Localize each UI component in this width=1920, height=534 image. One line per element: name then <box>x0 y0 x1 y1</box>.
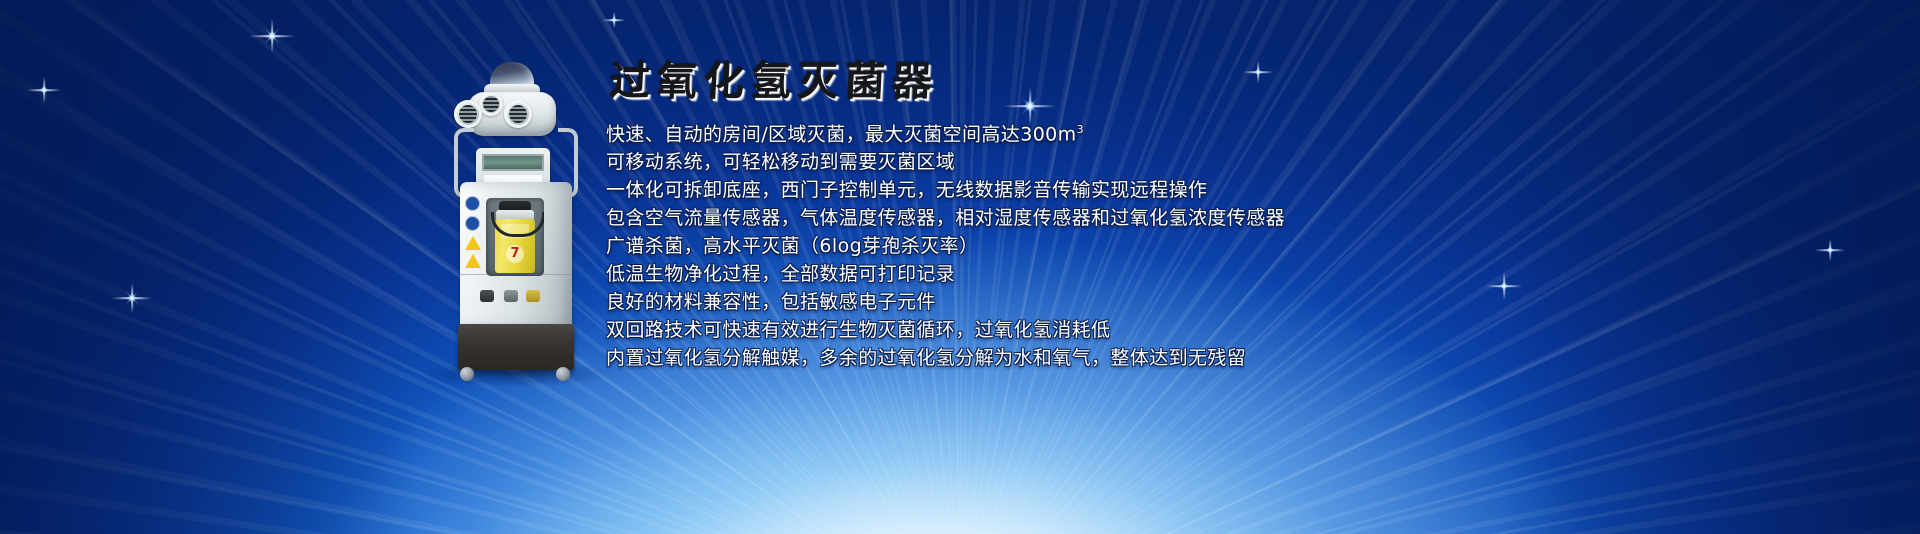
warning-triangle-icon <box>465 254 481 268</box>
nozzle-left-icon <box>454 100 482 128</box>
feature-line: 包含空气流量传感器，气体温度传感器，相对湿度传感器和过氧化氢浓度传感器 <box>606 204 1786 232</box>
warning-triangle-icon <box>465 236 481 250</box>
feature-line: 一体化可拆卸底座，西门子控制单元，无线数据影音传输实现远程操作 <box>606 176 1786 204</box>
panel-display <box>482 154 544 171</box>
caster-wheel-left <box>460 367 474 381</box>
power-button <box>480 290 494 302</box>
feature-line: 良好的材料兼容性，包括敏感电子元件 <box>606 288 1786 316</box>
page-title: 过氧化氢灭菌器 <box>609 62 940 102</box>
feature-line: 低温生物净化过程，全部数据可打印记录 <box>606 260 1786 288</box>
cabinet-body: 7 <box>460 182 572 328</box>
detachable-base <box>458 324 574 370</box>
nozzle-center-icon <box>479 92 503 116</box>
info-sticker-icon <box>465 196 480 211</box>
reagent-bottle-window: 7 <box>486 198 544 276</box>
warning-sticker-group <box>465 196 481 272</box>
control-button <box>504 290 518 302</box>
nozzle-right-icon <box>504 100 532 128</box>
panel-label-strip <box>484 175 542 182</box>
cubic-superscript: 3 <box>1077 123 1084 136</box>
copy-block: 过氧化氢灭菌器 快速、自动的房间/区域灭菌，最大灭菌空间高达300m3 可移动系… <box>606 62 1786 372</box>
caster-wheel-right <box>556 367 570 381</box>
feature-text: 快速、自动的房间/区域灭菌，最大灭菌空间高达300m <box>606 123 1077 145</box>
feature-line: 双回路技术可快速有效进行生物灭菌循环，过氧化氢消耗低 <box>606 316 1786 344</box>
indicator-button <box>526 290 540 302</box>
bottle-number: 7 <box>506 245 524 263</box>
feature-line: 广谱杀菌，高水平灭菌（6log芽孢杀灭率） <box>606 232 1786 260</box>
info-sticker-icon <box>465 216 480 231</box>
product-image: 7 <box>432 62 600 377</box>
feature-line: 快速、自动的房间/区域灭菌，最大灭菌空间高达300m3 <box>606 116 1786 148</box>
feature-line: 可移动系统，可轻松移动到需要灭菌区域 <box>606 148 1786 176</box>
control-panel <box>476 148 550 186</box>
product-banner: 7 过氧化氢灭菌器 快速、自动的房间/区域灭菌，最大灭菌空间高达300m3 可移… <box>0 0 1920 534</box>
feature-line: 内置过氧化氢分解触媒，多余的过氧化氢分解为水和氧气，整体达到无残留 <box>606 344 1786 372</box>
lower-button-row <box>480 290 550 304</box>
